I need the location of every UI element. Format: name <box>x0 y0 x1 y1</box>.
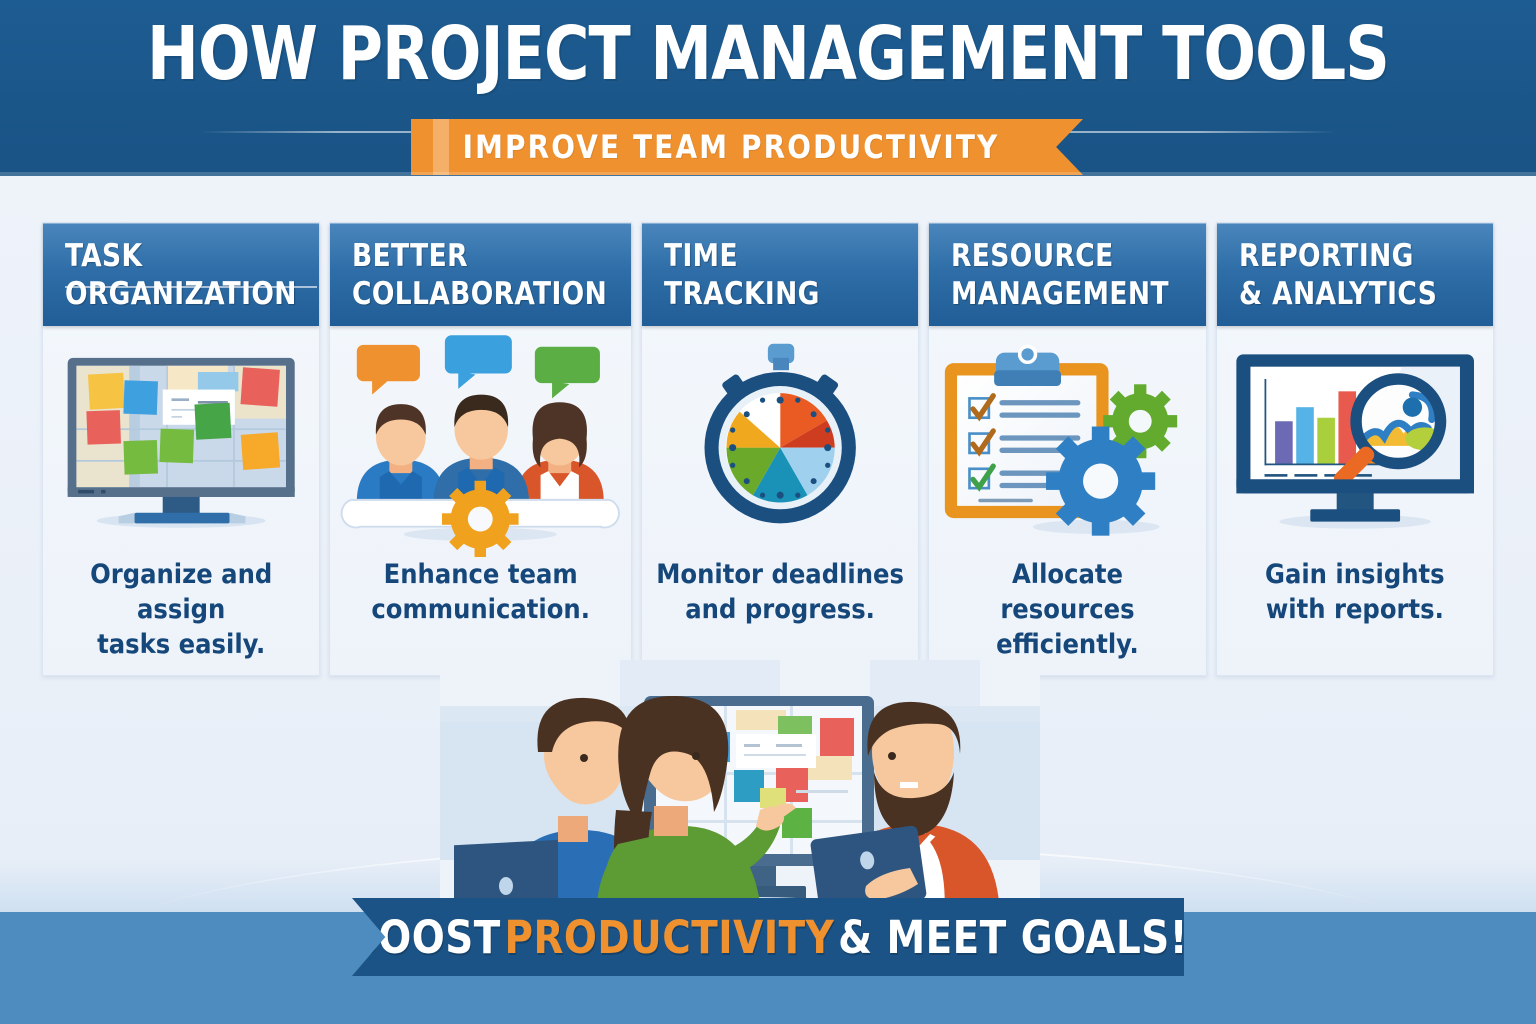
card-header: RESOURCE MANAGEMENT <box>929 223 1205 326</box>
card-title: TASK ORGANIZATION <box>65 237 297 313</box>
card-title-underline <box>65 286 317 288</box>
card-caption: Enhance team communication. <box>330 557 631 675</box>
footer-text: BOOST PRODUCTIVITY & MEET GOALS! <box>369 898 1168 976</box>
footer-text-after: & MEET GOALS! <box>836 911 1190 964</box>
stopwatch-pie-icon <box>642 326 918 557</box>
chart-magnifier-monitor-icon <box>1217 326 1493 557</box>
team-collaboration-scene <box>440 660 1040 922</box>
card-caption: Organize and assign tasks easily. <box>43 557 319 675</box>
card-title: BETTER COLLABORATION <box>352 237 607 313</box>
feature-card-row: TASK ORGANIZATION <box>42 222 1494 674</box>
card-title: REPORTING & ANALYTICS <box>1239 237 1471 313</box>
footer-text-highlight: PRODUCTIVITY <box>503 911 837 964</box>
card-time-tracking[interactable]: TIME TRACKING <box>641 222 919 676</box>
subtitle-banner: IMPROVE TEAM PRODUCTIVITY <box>411 119 1083 175</box>
infographic-canvas: HOW PROJECT MANAGEMENT TOOLS IMPROVE TEA… <box>0 0 1536 1024</box>
card-caption: Allocate resources efficiently. <box>929 557 1205 675</box>
card-better-collaboration[interactable]: BETTER COLLABORATION <box>329 222 632 676</box>
card-title: TIME TRACKING <box>664 237 896 313</box>
subtitle-text: IMPROVE TEAM PRODUCTIVITY <box>421 125 1042 169</box>
page-title: HOW PROJECT MANAGEMENT TOOLS <box>54 14 1482 94</box>
header-band: HOW PROJECT MANAGEMENT TOOLS IMPROVE TEA… <box>0 0 1536 176</box>
card-title: RESOURCE MANAGEMENT <box>951 237 1183 313</box>
card-caption: Monitor deadlines and progress. <box>642 557 918 675</box>
kanban-monitor-icon <box>43 326 319 557</box>
card-header: TIME TRACKING <box>642 223 918 326</box>
card-reporting-analytics[interactable]: REPORTING & ANALYTICS <box>1216 222 1494 676</box>
team-speech-bubbles-icon <box>330 326 631 557</box>
card-header: TASK ORGANIZATION <box>43 223 319 326</box>
card-caption: Gain insights with reports. <box>1217 557 1493 675</box>
footer-ribbon: BOOST PRODUCTIVITY & MEET GOALS! <box>352 898 1184 976</box>
card-header: BETTER COLLABORATION <box>330 223 631 326</box>
clipboard-gears-icon <box>929 326 1205 557</box>
card-header: REPORTING & ANALYTICS <box>1217 223 1493 326</box>
card-resource-management[interactable]: RESOURCE MANAGEMENT <box>928 222 1206 676</box>
card-task-organization[interactable]: TASK ORGANIZATION <box>42 222 320 676</box>
